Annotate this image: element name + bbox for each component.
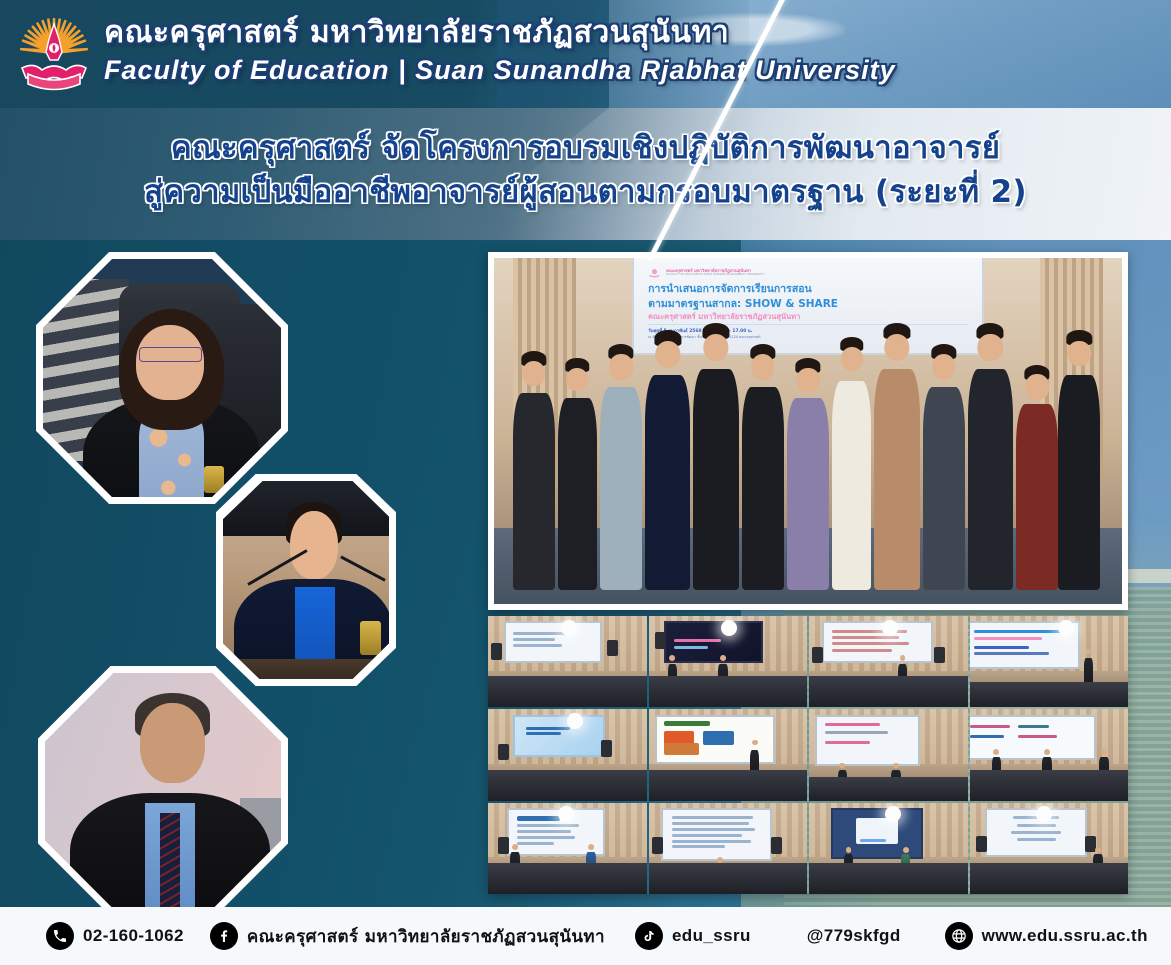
portrait-executive-man	[38, 666, 288, 916]
contact-footer: 02-160-1062 คณะครุศาสตร์ มหาวิทยาลัยราชภ…	[0, 907, 1171, 965]
brand-block: คณะครุศาสตร์ มหาวิทยาลัยราชภัฏสวนสุนันทา…	[104, 14, 1161, 88]
participant	[832, 381, 871, 590]
participant	[923, 387, 965, 590]
slide-org-en: FACULTY OF EDUCATION SUAN SUNANDHA RAJAB…	[666, 274, 765, 277]
workshop-photo-9	[488, 803, 647, 894]
participant	[693, 369, 738, 590]
title-line-2: สู่ความเป็นมืออาชีพอาจารย์ผู้สอนตามกรอบม…	[0, 170, 1171, 214]
participant	[645, 375, 690, 590]
facebook-icon	[210, 922, 238, 950]
tiktok-icon	[635, 922, 663, 950]
contact-line[interactable]: @779skfgd	[807, 926, 901, 946]
globe-icon	[945, 922, 973, 950]
portrait-speaker-podium	[216, 474, 396, 686]
contact-website[interactable]: www.edu.ssru.ac.th	[945, 922, 1148, 950]
portrait-dean-woman	[36, 252, 288, 504]
participant	[1016, 404, 1058, 590]
workshop-photo-11	[809, 803, 968, 894]
page-title: คณะครุศาสตร์ จัดโครงการอบรมเชิงปฏิบัติกา…	[0, 126, 1171, 214]
contact-phone[interactable]: 02-160-1062	[46, 922, 184, 950]
title-line-1: คณะครุศาสตร์ จัดโครงการอบรมเชิงปฏิบัติกา…	[0, 126, 1171, 170]
photo-gallery-grid	[488, 616, 1128, 894]
participant	[742, 387, 784, 590]
participant	[513, 393, 555, 591]
header-bar: คณะครุศาสตร์ มหาวิทยาลัยราชภัฏสวนสุนันทา…	[0, 0, 1171, 110]
poster-root: คณะครุศาสตร์ มหาวิทยาลัยราชภัฏสวนสุนันทา…	[0, 0, 1171, 965]
tiktok-handle: edu_ssru	[672, 926, 751, 946]
participant	[787, 398, 829, 590]
workshop-photo-3	[809, 616, 968, 707]
website-url: www.edu.ssru.ac.th	[982, 926, 1148, 946]
workshop-photo-5	[488, 709, 647, 800]
line-handle: @779skfgd	[807, 926, 901, 946]
slide-heading-1: การนำเสนอการจัดการเรียนการสอน	[648, 282, 968, 296]
workshop-photo-10	[649, 803, 808, 894]
group-photo-participants: คณะครุศาสตร์ มหาวิทยาลัยราชภัฏสวนสุนันทา…	[488, 252, 1128, 610]
contact-tiktok[interactable]: edu_ssru	[635, 922, 751, 950]
contact-facebook[interactable]: คณะครุศาสตร์ มหาวิทยาลัยราชภัฏสวนสุนันทา	[210, 922, 605, 950]
workshop-photo-8	[970, 709, 1129, 800]
phone-number: 02-160-1062	[83, 926, 184, 946]
title-band: คณะครุศาสตร์ จัดโครงการอบรมเชิงปฏิบัติกา…	[0, 108, 1171, 240]
workshop-photo-1	[488, 616, 647, 707]
workshop-photo-4	[970, 616, 1129, 707]
workshop-photo-7	[809, 709, 968, 800]
participants-row	[507, 300, 1110, 591]
facebook-name: คณะครุศาสตร์ มหาวิทยาลัยราชภัฏสวนสุนันทา	[247, 923, 605, 950]
workshop-photo-12	[970, 803, 1129, 894]
workshop-photo-2	[649, 616, 808, 707]
participant	[968, 369, 1013, 590]
participant	[874, 369, 919, 590]
participant	[558, 398, 597, 590]
faculty-name-en: Faculty of Education | Suan Sunandha Rja…	[104, 52, 1161, 88]
participant	[600, 387, 642, 590]
phone-icon	[46, 922, 74, 950]
workshop-photo-6	[649, 709, 808, 800]
faculty-name-th: คณะครุศาสตร์ มหาวิทยาลัยราชภัฏสวนสุนันทา	[104, 14, 1161, 52]
participant	[1058, 375, 1100, 590]
ssru-emblem	[14, 8, 94, 102]
